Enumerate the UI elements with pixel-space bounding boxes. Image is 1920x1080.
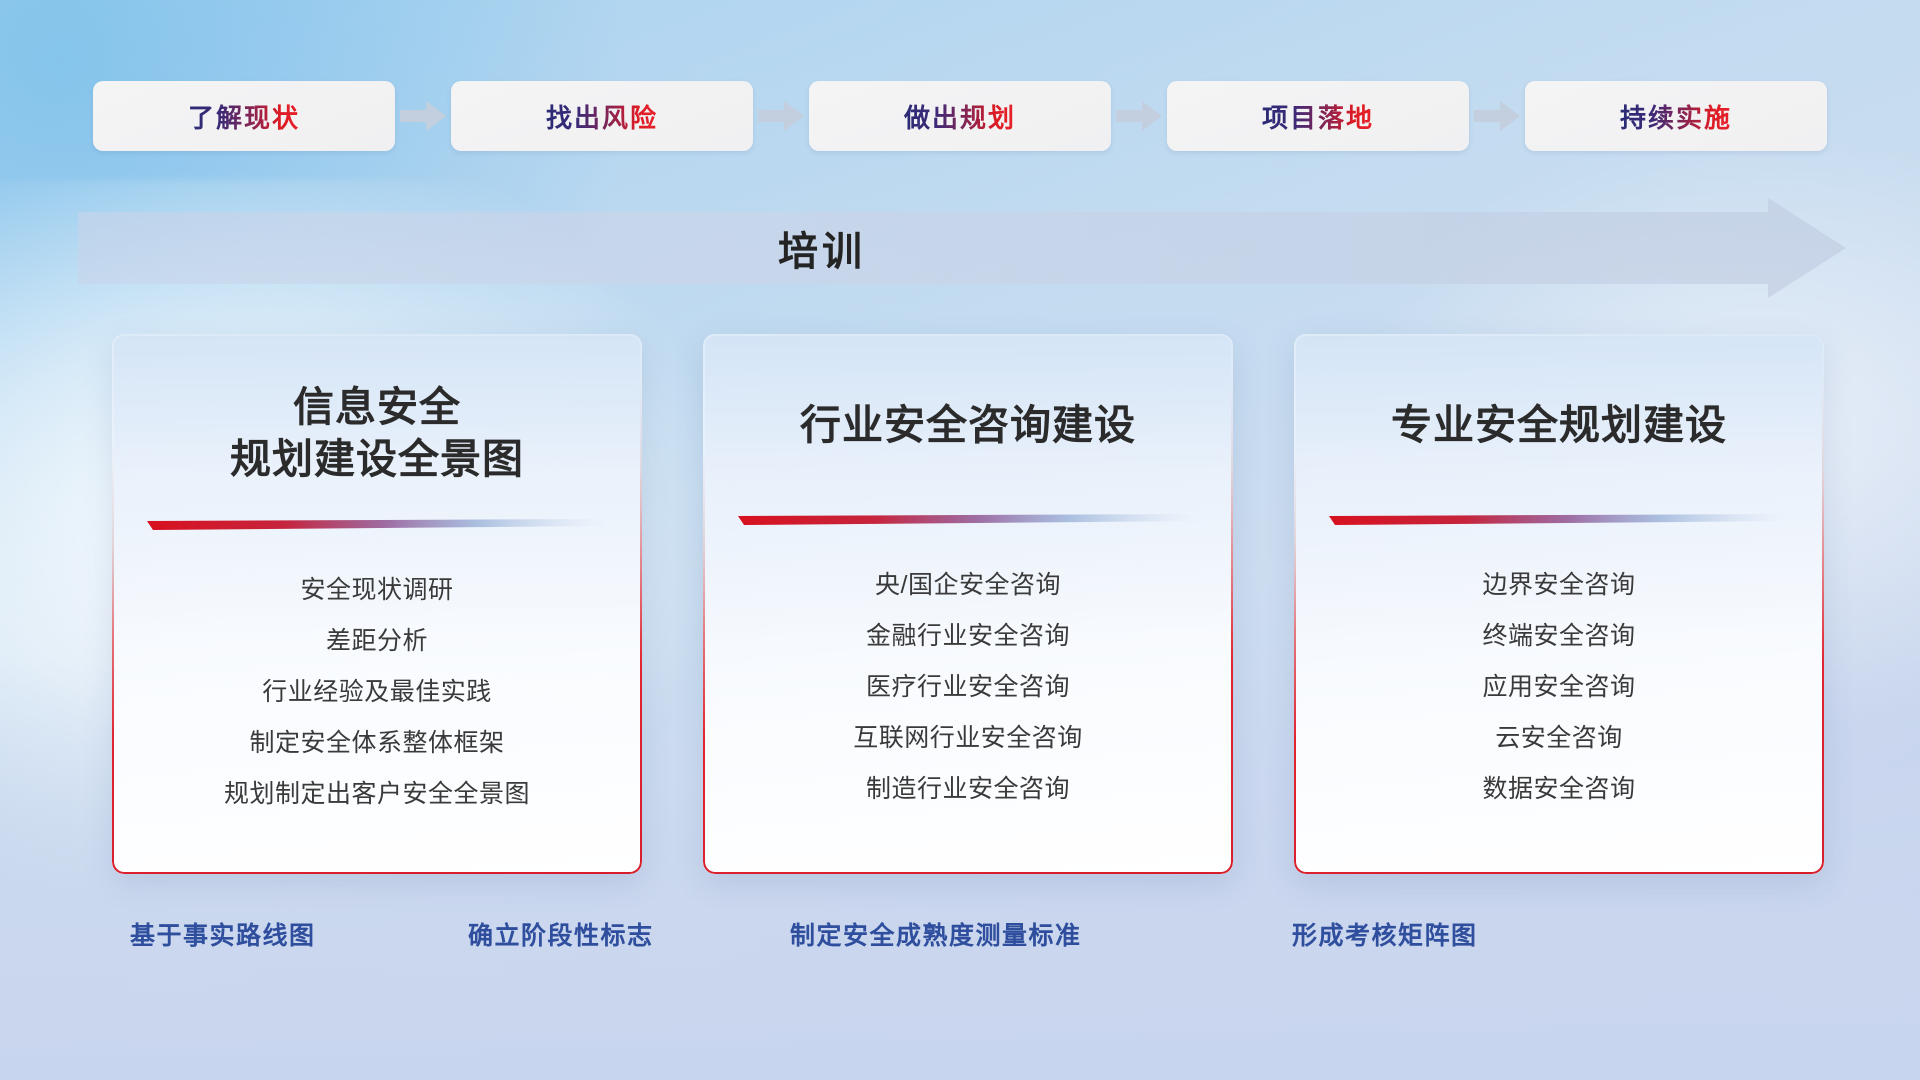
list-item: 边界安全咨询 — [1328, 560, 1790, 611]
card-row: 信息安全 规划建设全景图 安全现状调研 — [112, 334, 1824, 874]
card-divider — [1329, 514, 1789, 525]
card-industry-security-consulting[interactable]: 行业安全咨询建设 央/国企安全咨询 — [703, 334, 1233, 874]
caption-maturity: 制定安全成熟度测量标准 — [790, 916, 1082, 952]
list-item: 制定安全体系整体框架 — [146, 718, 608, 769]
card-professional-security-planning[interactable]: 专业安全规划建设 边界安全咨询 — [1294, 334, 1824, 874]
step-pill-4[interactable]: 项目落地 — [1167, 81, 1469, 151]
banner-label: 培训 — [78, 198, 1846, 298]
step-label: 持续实施 — [1620, 98, 1732, 135]
list-item: 安全现状调研 — [146, 565, 608, 616]
list-item: 互联网行业安全咨询 — [737, 713, 1199, 764]
arrow-right-icon — [1469, 81, 1525, 151]
list-item: 应用安全咨询 — [1328, 662, 1790, 713]
card-title: 行业安全咨询建设 — [800, 400, 1136, 452]
step-label: 了解现状 — [188, 98, 300, 135]
step-pill-2[interactable]: 找出风险 — [451, 81, 753, 151]
card-item-list: 央/国企安全咨询 金融行业安全咨询 医疗行业安全咨询 互联网行业安全咨询 制造行… — [737, 560, 1199, 815]
caption-matrix: 形成考核矩阵图 — [1292, 916, 1478, 952]
step-pill-1[interactable]: 了解现状 — [93, 81, 395, 151]
card-item-list: 边界安全咨询 终端安全咨询 应用安全咨询 云安全咨询 数据安全咨询 — [1328, 560, 1790, 815]
card-title: 专业安全规划建设 — [1391, 400, 1727, 452]
arrow-right-icon — [1111, 81, 1167, 151]
list-item: 数据安全咨询 — [1328, 764, 1790, 815]
caption-roadmap: 基于事实路线图 — [130, 916, 316, 952]
card-information-security-blueprint[interactable]: 信息安全 规划建设全景图 安全现状调研 — [112, 334, 642, 874]
list-item: 制造行业安全咨询 — [737, 764, 1199, 815]
step-label: 找出风险 — [546, 98, 658, 135]
list-item: 金融行业安全咨询 — [737, 611, 1199, 662]
step-pill-3[interactable]: 做出规划 — [809, 81, 1111, 151]
caption-row: 基于事实路线图 确立阶段性标志 制定安全成熟度测量标准 形成考核矩阵图 — [0, 916, 1920, 966]
card-divider — [147, 519, 607, 530]
list-item: 央/国企安全咨询 — [737, 560, 1199, 611]
step-label: 项目落地 — [1262, 98, 1374, 135]
process-step-list: 了解现状 找出风险 做出规划 项目落地 持续实施 — [0, 78, 1920, 154]
caption-milestone: 确立阶段性标志 — [468, 916, 654, 952]
list-item: 云安全咨询 — [1328, 713, 1790, 764]
arrow-right-icon — [395, 81, 451, 151]
list-item: 医疗行业安全咨询 — [737, 662, 1199, 713]
card-divider — [738, 514, 1198, 525]
step-pill-5[interactable]: 持续实施 — [1525, 81, 1827, 151]
card-item-list: 安全现状调研 差距分析 行业经验及最佳实践 制定安全体系整体框架 规划制定出客户… — [146, 565, 608, 820]
card-title: 信息安全 规划建设全景图 — [230, 382, 524, 485]
list-item: 规划制定出客户安全全景图 — [146, 769, 608, 820]
list-item: 终端安全咨询 — [1328, 611, 1790, 662]
training-banner: 培训 — [78, 198, 1846, 298]
list-item: 行业经验及最佳实践 — [146, 667, 608, 718]
step-label: 做出规划 — [904, 98, 1016, 135]
list-item: 差距分析 — [146, 616, 608, 667]
arrow-right-icon — [753, 81, 809, 151]
